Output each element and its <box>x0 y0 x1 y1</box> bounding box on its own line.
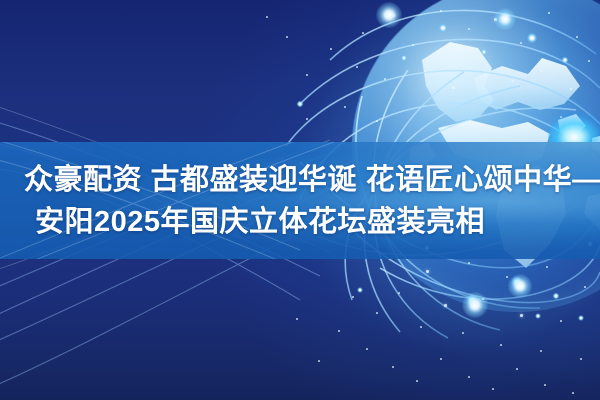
headline-line-2: 安阳2025年国庆立体花坛盛装亮相 <box>10 202 590 242</box>
headline-text-block: 众豪配资 古都盛装迎华诞 花语匠心颂中华——河南 安阳2025年国庆立体花坛盛装… <box>0 142 600 259</box>
headline-line-1: 众豪配资 古都盛装迎华诞 花语匠心颂中华——河南 <box>10 160 590 200</box>
news-banner-image: 众豪配资 古都盛装迎华诞 花语匠心颂中华——河南 安阳2025年国庆立体花坛盛装… <box>0 0 600 400</box>
